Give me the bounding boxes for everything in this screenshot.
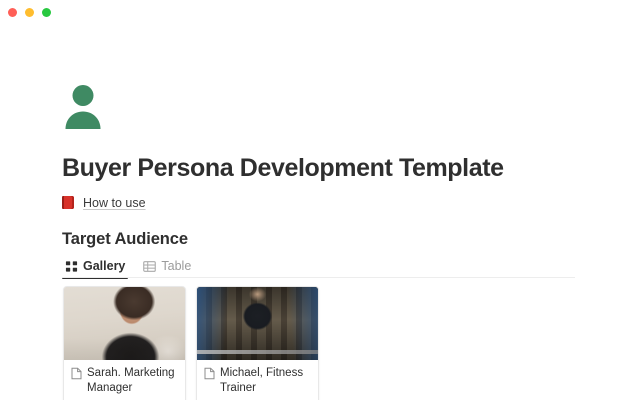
gallery-card-body: Sarah. Marketing Manager — [64, 360, 185, 400]
page-content: Buyer Persona Development Template How t… — [0, 30, 640, 400]
grid-view-icon — [65, 260, 78, 273]
maximize-window-button[interactable] — [42, 8, 51, 17]
page-document-icon — [204, 367, 215, 380]
gallery-card[interactable]: Michael, Fitness Trainer — [196, 286, 319, 400]
window-controls — [8, 8, 51, 17]
app-window: Buyer Persona Development Template How t… — [0, 0, 640, 400]
minimize-window-button[interactable] — [25, 8, 34, 17]
how-to-use-link[interactable]: How to use — [83, 195, 146, 211]
close-window-button[interactable] — [8, 8, 17, 17]
tab-table[interactable]: Table — [140, 259, 194, 278]
gallery-card-image — [64, 287, 185, 360]
view-tabs: Gallery Table — [62, 256, 194, 278]
page-document-icon — [71, 367, 82, 380]
window-titlebar — [0, 0, 640, 30]
gallery-card-title: Michael, Fitness Trainer — [220, 366, 311, 396]
gallery-card-image — [197, 287, 318, 360]
gallery-card-body: Michael, Fitness Trainer — [197, 360, 318, 400]
gallery-card[interactable]: Sarah. Marketing Manager — [63, 286, 186, 400]
tabs-divider — [62, 277, 575, 278]
page-title: Buyer Persona Development Template — [62, 152, 504, 184]
gallery-card-title: Sarah. Marketing Manager — [87, 366, 178, 396]
person-avatar-icon[interactable] — [63, 83, 103, 131]
closed-book-emoji — [62, 196, 76, 210]
section-heading: Target Audience — [62, 228, 188, 250]
gallery-grid: Sarah. Marketing Manager Michael, Fitnes… — [63, 286, 319, 400]
tab-gallery-label: Gallery — [83, 259, 125, 274]
how-to-use-row[interactable]: How to use — [62, 194, 146, 212]
tab-gallery[interactable]: Gallery — [62, 259, 128, 278]
tab-table-label: Table — [161, 259, 191, 274]
table-view-icon — [143, 260, 156, 273]
